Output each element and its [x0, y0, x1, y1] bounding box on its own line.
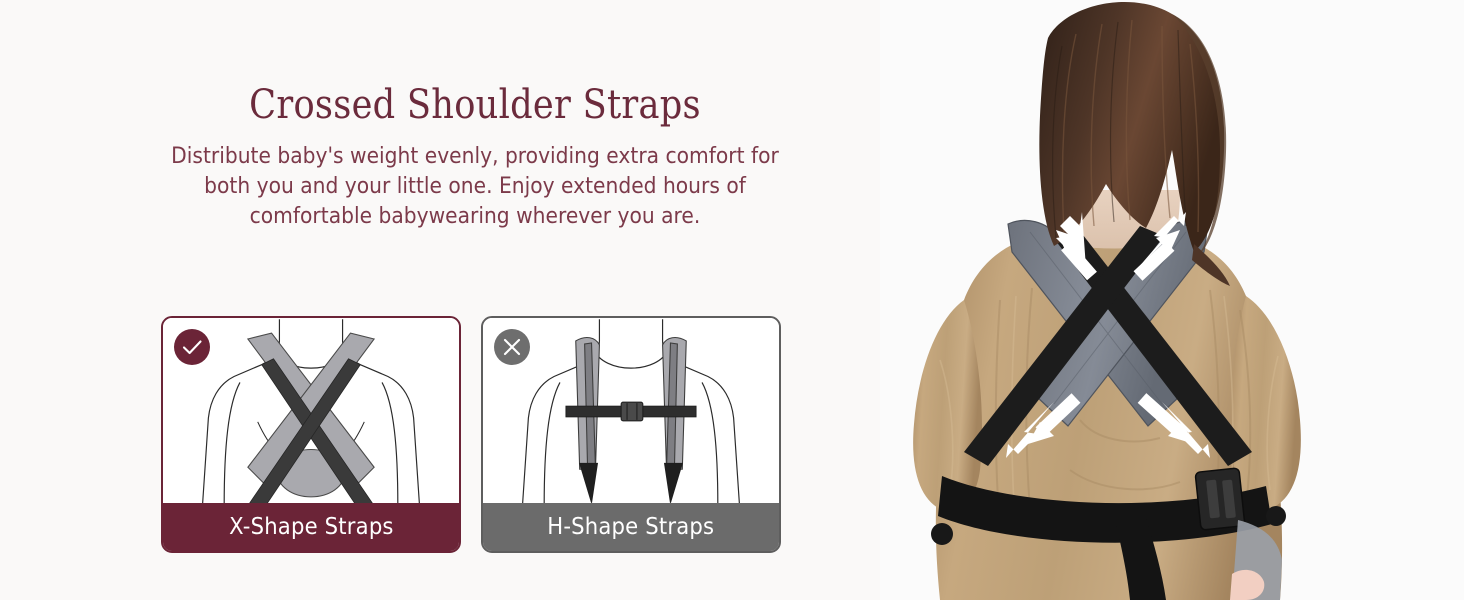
product-feature-banner: Crossed Shoulder Straps Distribute baby'…: [0, 0, 1464, 600]
copy-block: Crossed Shoulder Straps Distribute baby'…: [60, 84, 890, 232]
x-shape-label-text: X-Shape Straps: [229, 514, 393, 540]
comparison-card-x-shape[interactable]: X-Shape Straps: [161, 316, 461, 553]
page-title: Crossed Shoulder Straps: [110, 84, 840, 127]
h-shape-label-text: H-Shape Straps: [548, 514, 715, 540]
description-text: Distribute baby's weight evenly, providi…: [102, 141, 849, 231]
x-shape-label: X-Shape Straps: [163, 503, 459, 551]
cross-icon: [494, 329, 530, 365]
product-photo: [880, 0, 1464, 600]
h-shape-label: H-Shape Straps: [483, 503, 779, 551]
comparison-card-h-shape[interactable]: H-Shape Straps: [481, 316, 781, 553]
check-icon: [174, 329, 210, 365]
